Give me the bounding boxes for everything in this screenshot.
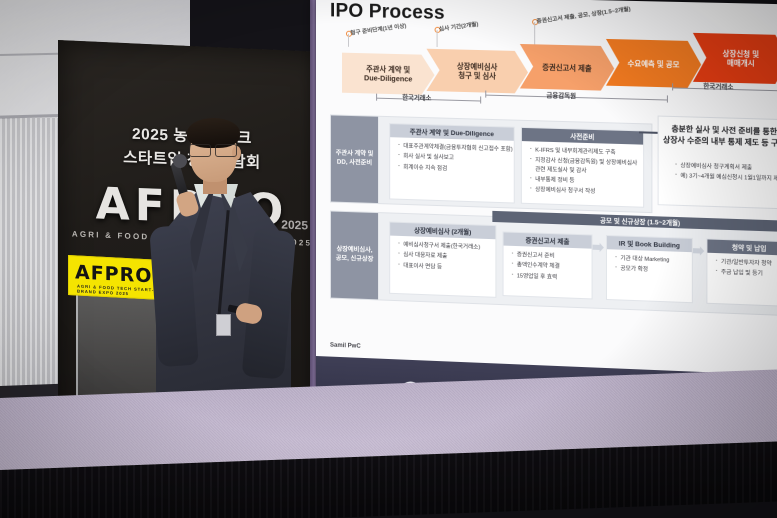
row-1-card-1-header: 주관사 계약 및 Due-Diligence [390, 124, 514, 141]
list-item: 기관 대상 Marketing [620, 255, 692, 266]
row-2-card-3[interactable]: 청약 및 납입 기관/일반투자자 청약 주금 납입 및 등기 [706, 238, 777, 307]
bracket-line-2 [485, 95, 668, 101]
chevron-step-1[interactable]: 주관사 계약 및 Due-Diligence [342, 53, 435, 96]
list-item: 증권신고서 준비 [517, 251, 593, 262]
list-item: 총액인수계약 체결 [517, 261, 593, 272]
row-1-callout: 충분한 실사 및 사전 준비를 통한 상장사 수준의 내부 통제 제도 등 구축… [658, 116, 777, 210]
row-2-card-1-items: 증권신고서 준비 총액인수계약 체결 15영업일 후 효력 [512, 251, 593, 285]
chevron-step-5[interactable]: 상장신청 및 매매개시 [693, 33, 777, 84]
chevron-step-4-label: 수요예측 및 공모 [627, 58, 679, 68]
list-item: 상장예비심사 청구서 작성 [535, 186, 642, 198]
chevron-step-2-label: 상장예비심사 청구 및 심사 [457, 62, 497, 81]
chevron-step-2[interactable]: 상장예비심사 청구 및 심사 [426, 49, 528, 94]
callout-stem-1 [348, 34, 349, 47]
row-2-card-3-items: 기관/일반투자자 청약 주금 납입 및 등기 [716, 258, 777, 282]
bracket-cap-3a [672, 83, 673, 90]
slide-credit: Samil PwC [330, 343, 361, 350]
speaker-name-badge [216, 314, 231, 336]
list-item: 기관/일반투자자 청약 [721, 258, 777, 269]
slide-content: IPO Process 청구 준비단계(1년 이상) 심사 기간(2개월) 증권… [316, 0, 777, 376]
row-1-band: 주관사 계약 및 DD, 사전준비 주관사 계약 및 Due-Diligence… [330, 114, 652, 213]
row-1-card-2-header: 사전준비 [522, 128, 643, 145]
bracket-cap-2b [667, 95, 668, 102]
authority-label-3: 한국거래소 [703, 81, 733, 91]
row-2-card-1-header: 증권신고서 제출 [504, 232, 592, 248]
list-item: 주금 납입 및 등기 [721, 269, 777, 280]
row-2-card-0[interactable]: 상장예비심사 (2개월) 예비심사청구서 제출(한국거래소) 심사 대응자료 제… [389, 221, 496, 297]
bracket-cap-2a [485, 91, 486, 98]
row-2-card-0-items: 예비심사청구서 제출(한국거래소) 심사 대응자료 제출 대표이사 면담 등 [398, 241, 496, 275]
authority-label-2: 금융감독원 [546, 90, 576, 100]
chevron-step-3-label: 증권신고서 제출 [542, 62, 592, 72]
list-item: 대표이사 면담 등 [403, 262, 496, 274]
chevron-note-3: 증권신고서 제출, 공모, 상장(1.5~2개월) [536, 5, 631, 26]
row-2-side-label: 상장예비심사, 공모, 신규상장 [331, 212, 378, 300]
list-item: K-IFRS 및 내부회계관리제도 구축 [535, 147, 642, 159]
chevron-step-5-label: 상장신청 및 매매개시 [723, 49, 760, 68]
row-2-band-title: 공모 및 신규상장 (1.5~2개월) [492, 211, 777, 232]
chevron-step-4[interactable]: 수요예측 및 공모 [606, 39, 701, 88]
row-2-card-0-header: 상장예비심사 (2개월) [390, 223, 495, 240]
row-2-connector-2 [693, 246, 704, 256]
row-2-card-2-header: IR 및 Book Building [607, 236, 692, 252]
row-1-callout-headline: 충분한 실사 및 사전 준비를 통한 상장사 수준의 내부 통제 제도 등 구축 [659, 123, 777, 150]
glasses-icon [189, 144, 237, 155]
list-item: 회계이슈 지속 점검 [403, 163, 512, 175]
bracket-cap-1b [480, 96, 481, 103]
row-1-callout-details: 상장예비심사 청구계획서 제출 예) 3기~4개월 예심신청시 1월1일까지 제… [675, 162, 777, 187]
row-1-card-1-items: 대표주관계약체결(금융투자협회 신고접수 포함) 회사 실사 및 실사보고 회계… [398, 142, 513, 176]
row-2-band: 상장예비심사, 공모, 신규상장 공모 및 신규상장 (1.5~2개월) 상장예… [330, 210, 777, 316]
row-1-side-label: 주관사 계약 및 DD, 사전준비 [331, 115, 378, 203]
row-2-card-1[interactable]: 증권신고서 제출 증권신고서 준비 총액인수계약 체결 15영업일 후 효력 [503, 231, 593, 299]
row-2-connector-1 [593, 243, 604, 253]
list-item: 지정감사 신청(금융감독원) 및 상장예비심사 관련 제도실사 및 감사 [535, 157, 642, 177]
list-item: 예) 3기~4개월 예심신청시 1월1일까지 제출 [680, 173, 777, 185]
row-2-card-3-header: 청약 및 납입 [707, 239, 777, 255]
list-item: 공모가 확정 [620, 265, 692, 276]
chevron-step-3[interactable]: 증권신고서 제출 [520, 44, 614, 91]
bracket-cap-1a [376, 94, 377, 101]
row-1-card-1[interactable]: 주관사 계약 및 Due-Diligence 대표주관계약체결(금융투자협회 신… [389, 123, 515, 203]
row-1-card-2[interactable]: 사전준비 K-IFRS 및 내부회계관리제도 구축 지정감사 신청(금융감독원)… [521, 127, 644, 208]
presentation-scene: 2025 농식품 테크 스타트업 창업박람회 AFPRO AGRI & FOOD… [0, 0, 777, 518]
row-1-card-2-items: K-IFRS 및 내부회계관리제도 구축 지정감사 신청(금융감독원) 및 상장… [530, 146, 642, 199]
callout-stem-2 [437, 30, 438, 47]
row-2-card-2-items: 기관 대상 Marketing 공모가 확정 [615, 255, 693, 279]
authority-label-1: 한국거래소 [402, 92, 431, 102]
slide-title: IPO Process [330, 0, 445, 25]
list-item: 15영업일 후 효력 [517, 272, 593, 283]
row-2-card-2[interactable]: IR 및 Book Building 기관 대상 Marketing 공모가 확… [606, 235, 693, 303]
chevron-step-1-label: 주관사 계약 및 Due-Diligence [364, 64, 412, 83]
chevron-note-1: 청구 준비단계(1년 이상) [350, 21, 407, 36]
